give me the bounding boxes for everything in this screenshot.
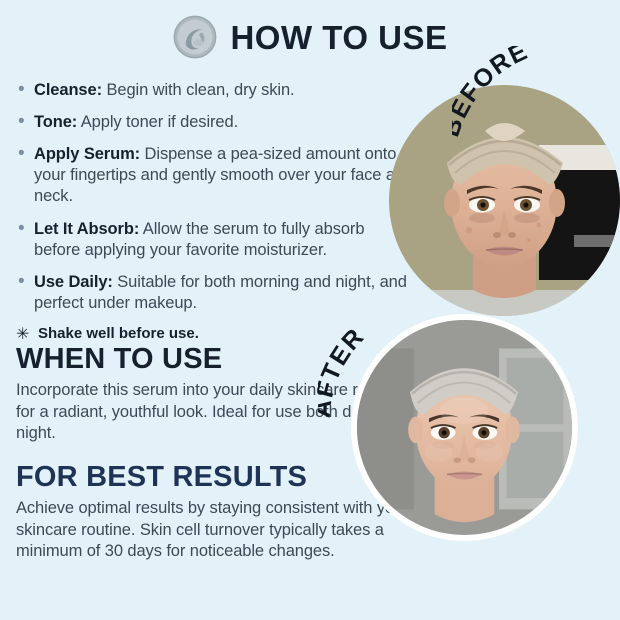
before-photo <box>389 85 620 316</box>
bullet-icon: • <box>14 272 34 292</box>
bullet-icon: • <box>14 219 34 239</box>
shake-note-text: Shake well before use. <box>38 325 199 344</box>
bullet-icon: • <box>14 112 34 132</box>
before-face-image <box>389 85 620 316</box>
step-text: Let It Absorb: Allow the serum to fully … <box>34 219 414 261</box>
list-item: • Use Daily: Suitable for both morning a… <box>14 272 414 314</box>
bullet-icon: • <box>14 144 34 164</box>
step-body: Apply toner if desired. <box>77 113 238 131</box>
wave-swirl-logo-icon <box>172 14 218 60</box>
step-label: Cleanse: <box>34 81 102 99</box>
list-item: • Tone: Apply toner if desired. <box>14 112 414 133</box>
infographic-page: HOW TO USE • Cleanse: Begin with clean, … <box>0 0 620 620</box>
section-for-best-results: FOR BEST RESULTS Achieve optimal results… <box>16 462 416 563</box>
list-item: • Let It Absorb: Allow the serum to full… <box>14 219 414 261</box>
section-body: Achieve optimal results by staying consi… <box>16 498 416 562</box>
step-text: Tone: Apply toner if desired. <box>34 112 238 133</box>
step-text: Cleanse: Begin with clean, dry skin. <box>34 80 295 101</box>
page-title: HOW TO USE <box>230 21 447 54</box>
page-header: HOW TO USE <box>0 14 620 60</box>
step-body: Begin with clean, dry skin. <box>102 81 295 99</box>
bullet-icon: • <box>14 80 34 100</box>
step-label: Apply Serum: <box>34 145 140 163</box>
asterisk-icon: ✳ <box>14 325 38 345</box>
list-item: • Cleanse: Begin with clean, dry skin. <box>14 80 414 101</box>
step-text: Apply Serum: Dispense a pea-sized amount… <box>34 144 414 207</box>
step-label: Use Daily: <box>34 273 113 291</box>
after-face-image <box>357 320 572 535</box>
section-heading: FOR BEST RESULTS <box>16 462 416 492</box>
step-label: Let It Absorb: <box>34 220 139 238</box>
step-text: Use Daily: Suitable for both morning and… <box>34 272 414 314</box>
steps-list: • Cleanse: Begin with clean, dry skin. •… <box>14 80 414 345</box>
after-photo <box>351 314 578 541</box>
section-heading: WHEN TO USE <box>16 344 416 374</box>
step-label: Tone: <box>34 113 77 131</box>
list-item: • Apply Serum: Dispense a pea-sized amou… <box>14 144 414 207</box>
shake-note: ✳ Shake well before use. <box>14 325 414 345</box>
